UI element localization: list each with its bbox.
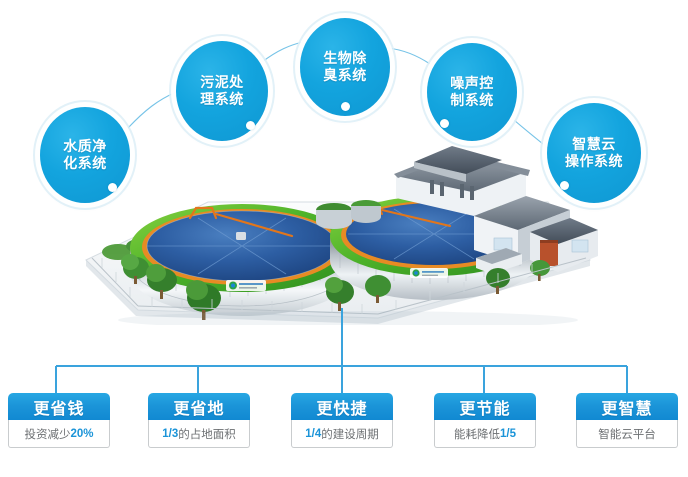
bubble-text-wrap: 水质净化系统 bbox=[59, 138, 111, 172]
bubble-text-wrap: 污泥处理系统 bbox=[196, 74, 248, 108]
benefit-card-title: 更智慧 bbox=[576, 393, 678, 420]
bubble-label: 噪声控 bbox=[446, 75, 498, 92]
benefit-card-body: 1/4的建设周期 bbox=[291, 420, 393, 448]
benefit-card-faster[interactable]: 更快捷1/4的建设周期 bbox=[291, 393, 393, 448]
benefit-body-pre: 能耗降低 bbox=[454, 426, 500, 442]
bubble-text-wrap: 噪声控制系统 bbox=[446, 75, 498, 109]
bubble-accent-dot-icon bbox=[560, 181, 569, 190]
bubble-label-2: 臭系统 bbox=[319, 67, 371, 84]
benefit-body-pre: 投资减少 bbox=[24, 426, 70, 442]
bubble-label: 水质净 bbox=[59, 138, 111, 155]
bubble-label-2: 理系统 bbox=[196, 91, 248, 108]
benefit-body-highlight: 1/5 bbox=[500, 428, 516, 440]
bubble-label-2: 化系统 bbox=[59, 155, 111, 172]
benefit-card-body: 智能云平台 bbox=[576, 420, 678, 448]
bubble-label: 污泥处 bbox=[196, 74, 248, 91]
bubble-accent-dot-icon bbox=[108, 183, 117, 192]
bubble-text-wrap: 智慧云操作系统 bbox=[561, 136, 627, 170]
bubble-label-2: 制系统 bbox=[446, 92, 498, 109]
bubble-label-2: 操作系统 bbox=[561, 153, 627, 170]
infographic-canvas: 水质净化系统污泥处理系统生物除臭系统噪声控制系统智慧云操作系统 更省钱投资减少2… bbox=[0, 0, 688, 477]
benefit-body-highlight: 1/3 bbox=[162, 428, 178, 440]
bubble-accent-dot-icon bbox=[246, 121, 255, 130]
bubble-label: 生物除 bbox=[319, 50, 371, 67]
benefit-card-save-land[interactable]: 更省地1/3的占地面积 bbox=[148, 393, 250, 448]
benefit-body-post: 的建设周期 bbox=[321, 426, 379, 442]
benefit-body-post: 的占地面积 bbox=[178, 426, 236, 442]
benefit-card-energy-save[interactable]: 更节能能耗降低1/5 bbox=[434, 393, 536, 448]
bubble-accent-dot-icon bbox=[440, 119, 449, 128]
benefit-body-highlight: 1/4 bbox=[305, 428, 321, 440]
benefit-card-body: 能耗降低1/5 bbox=[434, 420, 536, 448]
benefit-card-save-money[interactable]: 更省钱投资减少20% bbox=[8, 393, 110, 448]
benefit-card-body: 1/3的占地面积 bbox=[148, 420, 250, 448]
benefit-card-title: 更省钱 bbox=[8, 393, 110, 420]
benefit-card-title: 更节能 bbox=[434, 393, 536, 420]
benefit-card-title: 更省地 bbox=[148, 393, 250, 420]
bubble-accent-dot-icon bbox=[341, 102, 350, 111]
bubble-label: 智慧云 bbox=[561, 136, 627, 153]
bubble-text-wrap: 生物除臭系统 bbox=[319, 50, 371, 84]
benefit-card-title: 更快捷 bbox=[291, 393, 393, 420]
benefit-card-body: 投资减少20% bbox=[8, 420, 110, 448]
benefit-card-smarter[interactable]: 更智慧智能云平台 bbox=[576, 393, 678, 448]
benefit-body-pre: 智能云平台 bbox=[598, 426, 656, 442]
benefit-body-highlight: 20% bbox=[70, 428, 93, 440]
